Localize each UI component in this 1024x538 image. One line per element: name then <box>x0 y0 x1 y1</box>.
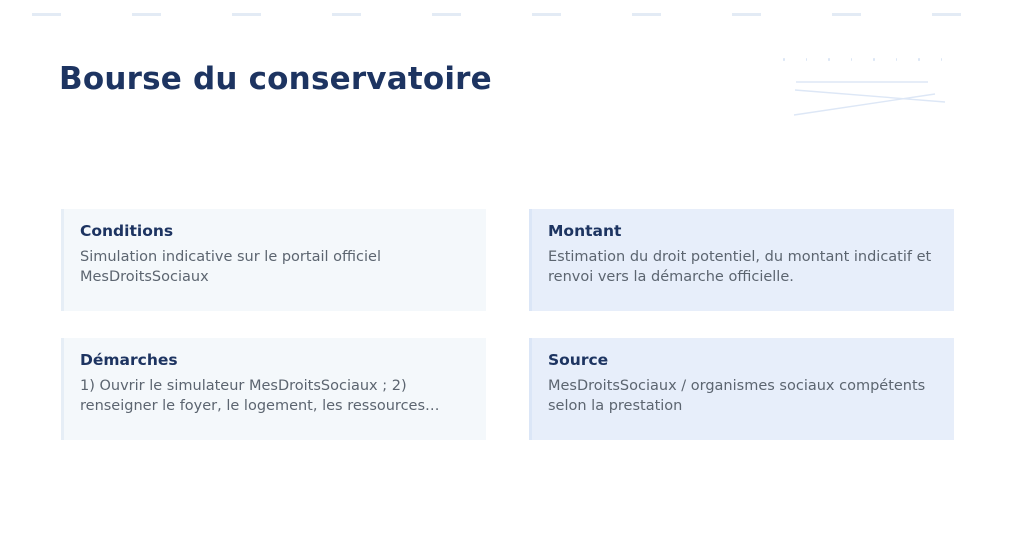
info-card-conditions: Conditions Simulation indicative sur le … <box>61 209 486 311</box>
card-grid: Conditions Simulation indicative sur le … <box>61 209 963 440</box>
info-card-body: Estimation du droit potentiel, du montan… <box>548 247 936 287</box>
info-card-demarches: Démarches 1) Ouvrir le simulateur MesDro… <box>61 338 486 440</box>
top-dashed-rule <box>32 13 992 16</box>
info-card-title: Source <box>548 352 936 369</box>
info-card-source: Source MesDroitsSociaux / organismes soc… <box>529 338 954 440</box>
decorative-lines-icon <box>780 50 970 122</box>
info-card-body: Simulation indicative sur le portail off… <box>80 247 468 287</box>
info-card-montant: Montant Estimation du droit potentiel, d… <box>529 209 954 311</box>
info-card-body: MesDroitsSociaux / organismes sociaux co… <box>548 376 936 416</box>
page-title: Bourse du conservatoire <box>59 61 492 97</box>
decorative-graphic <box>780 50 970 122</box>
info-card-title: Démarches <box>80 352 468 369</box>
info-card-title: Montant <box>548 223 936 240</box>
info-card-title: Conditions <box>80 223 468 240</box>
info-card-body: 1) Ouvrir le simulateur MesDroitsSociaux… <box>80 376 468 416</box>
